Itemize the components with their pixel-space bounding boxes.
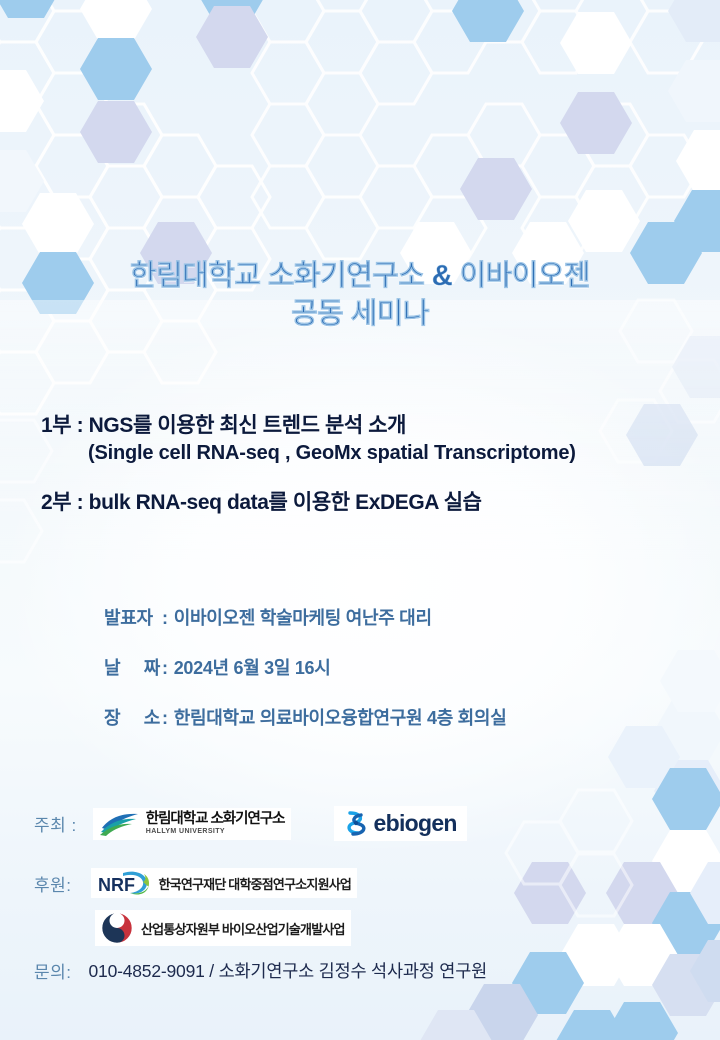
detail-label-date: 날 짜 (104, 654, 160, 680)
contact-row: 문의: 010-4852-9091 / 소화기연구소 김정수 석사과정 연구원 (34, 958, 487, 983)
nrf-mark-icon: NRF (97, 870, 153, 896)
program-item-2: 2부 : bulk RNA-seq data를 이용한 ExDEGA 실습 (41, 489, 713, 517)
program-item-1-subtitle: (Single cell RNA-seq , GeoMx spatial Tra… (41, 440, 713, 467)
host-label: 주최 : (34, 811, 77, 836)
detail-value-date: 2024년 6월 3일 16시 (174, 654, 331, 680)
poster-content: 한림대학교 소화기연구소 & 이바이오젠 공동 세미나 1부 : NGS를 이용… (0, 0, 720, 1040)
contact-label: 문의: (34, 958, 72, 983)
program-item-2-title: 2부 : bulk RNA-seq data를 이용한 ExDEGA 실습 (41, 489, 713, 517)
hallym-swoosh-icon (99, 811, 141, 837)
seminar-poster: 한림대학교 소화기연구소 & 이바이오젠 공동 세미나 1부 : NGS를 이용… (0, 0, 720, 1040)
nrf-logo-korean-text: 한국연구재단 대학중점연구소지원사업 (159, 874, 352, 893)
svg-text:NRF: NRF (98, 875, 135, 895)
host-row: 주최 : 한림대학교 소화기연구소 HALLYM UNIVERSITY (34, 806, 467, 841)
ebiogen-wordmark: ebiogen (374, 810, 457, 837)
sponsor-label: 후원: (34, 871, 72, 896)
details-section: 발표자 : 이바이오젠 학술마케팅 여난주 대리 날 짜 : 2024년 6월 … (104, 604, 684, 754)
motie-logo: 산업통상자원부 바이오산업기술개발사업 (95, 910, 351, 946)
detail-value-speaker: 이바이오젠 학술마케팅 여난주 대리 (174, 604, 432, 630)
contact-value: 010-4852-9091 / 소화기연구소 김정수 석사과정 연구원 (89, 958, 488, 983)
detail-colon-location: : (160, 708, 174, 729)
program-item-1: 1부 : NGS를 이용한 최신 트렌드 분석 소개 (Single cell … (41, 412, 713, 467)
detail-label-location: 장 소 (104, 704, 160, 730)
detail-row-location: 장 소 : 한림대학교 의료바이오융합연구원 4층 회의실 (104, 704, 684, 730)
sponsor-row-motie: 산업통상자원부 바이오산업기술개발사업 (95, 910, 351, 946)
sponsor-row-nrf: 후원: NRF 한국연구재단 대학중점연구소지원사업 (34, 868, 357, 898)
hallym-university-logo: 한림대학교 소화기연구소 HALLYM UNIVERSITY (93, 808, 291, 840)
detail-value-location: 한림대학교 의료바이오융합연구원 4층 회의실 (174, 704, 507, 730)
ebiogen-logo: ebiogen (334, 806, 467, 841)
detail-row-speaker: 발표자 : 이바이오젠 학술마케팅 여난주 대리 (104, 604, 684, 630)
ebiogen-helix-icon (344, 810, 369, 837)
hallym-logo-english-text: HALLYM UNIVERSITY (146, 828, 285, 835)
program-section: 1부 : NGS를 이용한 최신 트렌드 분석 소개 (Single cell … (41, 412, 713, 539)
hallym-logo-korean-text: 한림대학교 소화기연구소 (146, 812, 285, 827)
taegeuk-icon (101, 912, 133, 944)
motie-logo-korean-text: 산업통상자원부 바이오산업기술개발사업 (141, 919, 345, 938)
program-item-1-title: 1부 : NGS를 이용한 최신 트렌드 분석 소개 (41, 412, 713, 440)
detail-row-date: 날 짜 : 2024년 6월 3일 16시 (104, 654, 684, 680)
title-line-1: 한림대학교 소화기연구소 & 이바이오젠 (0, 258, 720, 296)
detail-colon-speaker: : (160, 608, 174, 629)
detail-colon-date: : (160, 658, 174, 679)
nrf-logo: NRF 한국연구재단 대학중점연구소지원사업 (91, 868, 358, 898)
title-line-2: 공동 세미나 (0, 296, 720, 334)
poster-title: 한림대학교 소화기연구소 & 이바이오젠 공동 세미나 (0, 258, 720, 333)
detail-label-speaker: 발표자 (104, 604, 160, 630)
